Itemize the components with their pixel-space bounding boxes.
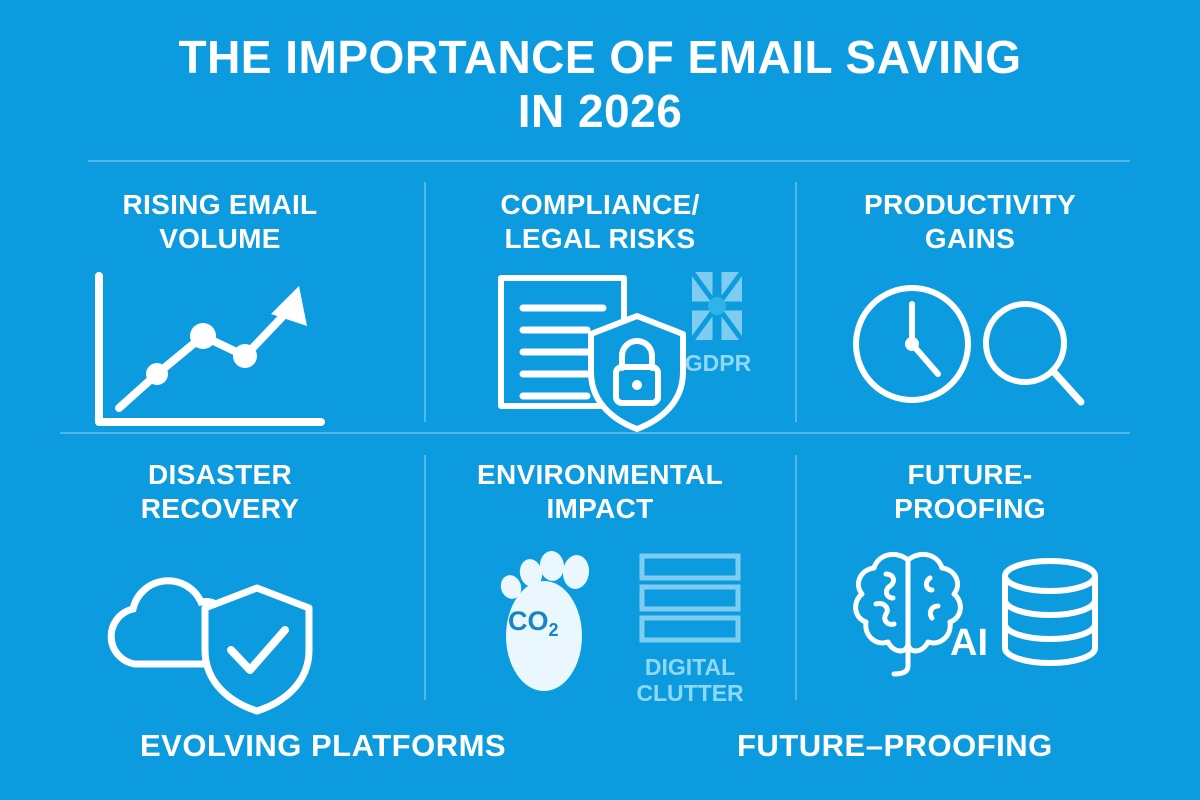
cell-title-line-1: RISING EMAIL <box>123 189 318 220</box>
cell-title-environmental-impact: ENVIRONMENTAL IMPACT <box>420 458 780 526</box>
cell-art-rising-email-volume <box>40 270 400 445</box>
cell-title-disaster-recovery: DISASTER RECOVERY <box>40 458 400 526</box>
digital-clutter-caption: DIGITAL CLUTTER <box>620 654 760 706</box>
cell-rising-email-volume: RISING EMAIL VOLUME <box>40 188 400 445</box>
cell-title-line-2: LEGAL RISKS <box>504 223 695 254</box>
digital-clutter-line-2: CLUTTER <box>636 680 743 706</box>
cell-title-productivity-gains: PRODUCTIVITY GAINS <box>790 188 1150 256</box>
cell-art-compliance-legal-risks: GDPR <box>420 270 780 445</box>
cell-art-environmental-impact: CO2 DIGITAL CLUTTER <box>420 544 780 719</box>
stacked-bars-icon <box>638 552 743 644</box>
cell-title-line-1: ENVIRONMENTAL <box>477 459 723 490</box>
co2-label: CO2 <box>508 606 559 641</box>
page-title-line-2: IN 2026 <box>0 84 1200 138</box>
digital-clutter-line-1: DIGITAL <box>645 654 735 680</box>
line-chart-icon <box>85 270 335 440</box>
cell-art-future-proofing: AI <box>790 544 1150 719</box>
page-title-line-1: THE IMPORTANCE OF EMAIL SAVING <box>0 30 1200 84</box>
database-icon <box>998 556 1103 671</box>
infographic-canvas: THE IMPORTANCE OF EMAIL SAVING IN 2026 R… <box>0 0 1200 800</box>
co2-label-subscript: 2 <box>549 620 559 640</box>
shield-check-icon <box>195 582 320 717</box>
cell-title-rising-email-volume: RISING EMAIL VOLUME <box>40 188 400 256</box>
cell-title-future-proofing: FUTURE- PROOFING <box>790 458 1150 526</box>
cell-art-disaster-recovery <box>40 542 400 717</box>
cell-title-compliance-legal-risks: COMPLIANCE/ LEGAL RISKS <box>420 188 780 256</box>
footer-label-right: FUTURE–PROOFING <box>737 728 1053 764</box>
page-title: THE IMPORTANCE OF EMAIL SAVING IN 2026 <box>0 30 1200 138</box>
cell-future-proofing: FUTURE- PROOFING AI <box>790 458 1150 719</box>
cell-title-line-2: GAINS <box>925 223 1015 254</box>
cell-title-line-2: RECOVERY <box>141 493 300 524</box>
divider-horizontal-top <box>88 160 1130 162</box>
cell-title-line-2: VOLUME <box>159 223 281 254</box>
cell-title-line-2: IMPACT <box>546 493 653 524</box>
footer-label-left: EVOLVING PLATFORMS <box>140 728 506 764</box>
co2-label-main: CO <box>508 606 549 636</box>
cell-productivity-gains: PRODUCTIVITY GAINS <box>790 188 1150 445</box>
cell-title-line-2: PROOFING <box>894 493 1046 524</box>
ai-label: AI <box>950 622 988 665</box>
cell-title-line-1: PRODUCTIVITY <box>864 189 1076 220</box>
clock-icon <box>850 282 975 407</box>
cell-art-productivity-gains <box>790 270 1150 445</box>
gdpr-badge-icon <box>690 270 744 342</box>
cell-disaster-recovery: DISASTER RECOVERY <box>40 458 400 717</box>
magnifier-icon <box>980 298 1090 413</box>
cell-compliance-legal-risks: COMPLIANCE/ LEGAL RISKS <box>420 188 780 445</box>
cell-title-line-1: COMPLIANCE/ <box>500 189 699 220</box>
cell-title-line-1: FUTURE- <box>908 459 1033 490</box>
cell-environmental-impact: ENVIRONMENTAL IMPACT CO2 DIGITAL <box>420 458 780 719</box>
cell-title-line-1: DISASTER <box>148 459 292 490</box>
gdpr-caption: GDPR <box>675 350 761 376</box>
